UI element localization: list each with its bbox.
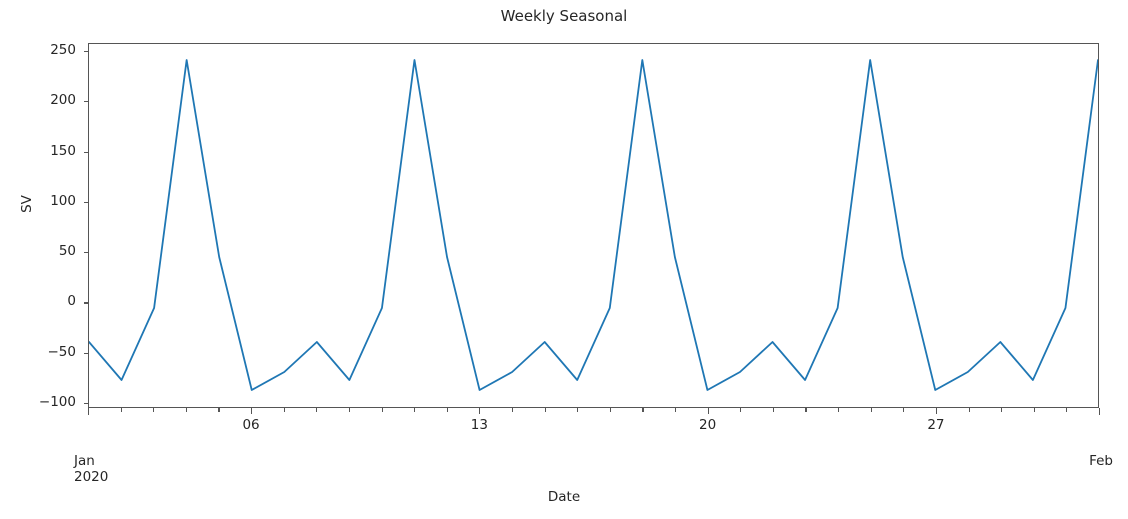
x-minor-tick-mark: [545, 408, 546, 412]
x-minor-tick-mark: [969, 408, 970, 412]
y-tick-mark: [84, 101, 88, 102]
x-minor-tick-mark: [316, 408, 317, 412]
x-tick-mark: [708, 408, 709, 414]
y-tick-mark: [84, 353, 88, 354]
y-tick-label: 100: [0, 193, 76, 209]
x-tick-mark: [251, 408, 252, 414]
x-minor-tick-mark: [1066, 408, 1067, 412]
y-tick-mark: [84, 252, 88, 253]
offset-label-line-2: 2020: [74, 469, 108, 485]
x-minor-tick-mark: [903, 408, 904, 412]
x-minor-tick-mark: [1001, 408, 1002, 412]
x-axis-label: Date: [0, 489, 1128, 505]
y-tick-label: −100: [0, 394, 76, 410]
plot-axes: [88, 43, 1099, 408]
chart-figure: Weekly Seasonal SV Date 250200150100500−…: [0, 0, 1128, 519]
y-tick-mark: [84, 302, 88, 303]
x-minor-tick-mark: [642, 408, 643, 412]
x-minor-tick-mark: [284, 408, 285, 412]
weekly-seasonal-line: [89, 60, 1098, 390]
x-axis-offset-label: Jan2020: [74, 453, 108, 485]
x-tick-label: 13: [439, 417, 519, 433]
x-axis-end-tick: [1099, 408, 1100, 415]
x-tick-label: 20: [668, 417, 748, 433]
x-minor-tick-mark: [349, 408, 350, 412]
y-tick-label: 0: [0, 293, 76, 309]
x-minor-tick-mark: [153, 408, 154, 412]
y-tick-label: 200: [0, 92, 76, 108]
x-minor-tick-mark: [218, 408, 219, 412]
x-tick-label: 27: [896, 417, 976, 433]
y-tick-mark: [84, 51, 88, 52]
x-minor-tick-mark: [740, 408, 741, 412]
series-line-svg: [89, 44, 1098, 407]
x-minor-tick-mark: [1034, 408, 1035, 412]
offset-label-line-1: Jan: [74, 453, 108, 469]
x-minor-tick-mark: [838, 408, 839, 412]
offset-label-line-1: Feb: [1037, 453, 1113, 469]
x-minor-tick-mark: [447, 408, 448, 412]
x-tick-mark: [479, 408, 480, 414]
x-minor-tick-mark: [773, 408, 774, 412]
x-minor-tick-mark: [512, 408, 513, 412]
x-axis-end-tick: [88, 408, 89, 415]
x-tick-label: 06: [211, 417, 291, 433]
y-tick-label: −50: [0, 344, 76, 360]
y-tick-mark: [84, 152, 88, 153]
x-minor-tick-mark: [186, 408, 187, 412]
x-minor-tick-mark: [414, 408, 415, 412]
y-tick-mark: [84, 403, 88, 404]
x-minor-tick-mark: [805, 408, 806, 412]
x-axis-offset-label: Feb: [1037, 453, 1113, 469]
y-tick-mark: [84, 202, 88, 203]
x-minor-tick-mark: [121, 408, 122, 412]
x-minor-tick-mark: [610, 408, 611, 412]
chart-title: Weekly Seasonal: [0, 7, 1128, 25]
x-minor-tick-mark: [577, 408, 578, 412]
x-minor-tick-mark: [382, 408, 383, 412]
y-tick-label: 50: [0, 243, 76, 259]
y-tick-label: 250: [0, 42, 76, 58]
y-tick-label: 150: [0, 143, 76, 159]
x-minor-tick-mark: [871, 408, 872, 412]
x-minor-tick-mark: [675, 408, 676, 412]
x-tick-mark: [936, 408, 937, 414]
